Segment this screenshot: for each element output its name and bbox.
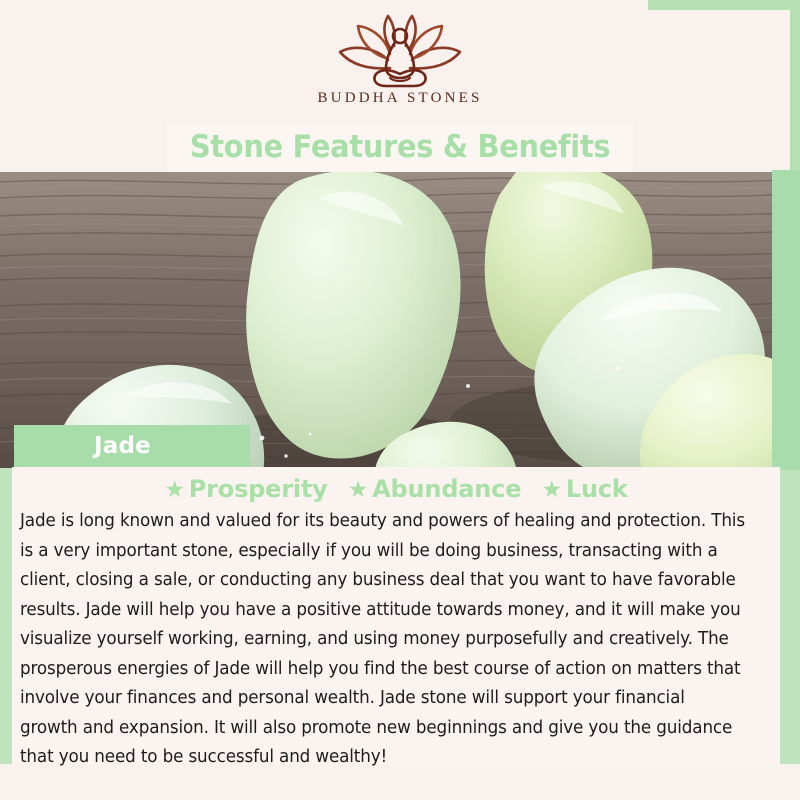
star-icon: ★ (541, 479, 561, 502)
benefit-label-prosperity: Prosperity (189, 475, 328, 503)
title-banner: Stone Features & Benefits (167, 122, 633, 172)
green-accent-right-lower (780, 468, 800, 768)
infographic-page: BUDDHA STONES Stone Features & Benefits … (0, 0, 800, 800)
page-title: Stone Features & Benefits (190, 129, 610, 165)
jade-stones-photo (0, 172, 800, 468)
star-icon: ★ (164, 479, 184, 502)
content-panel: ★Prosperity ★Abundance ★Luck Jade is lon… (12, 467, 780, 764)
stone-name-label: Jade (14, 425, 250, 467)
green-accent-left-lower (0, 467, 12, 767)
stone-description: Jade is long known and valued for its be… (20, 507, 746, 773)
benefit-item-luck: ★Luck (541, 475, 627, 503)
green-accent-right (772, 170, 800, 470)
benefit-label-luck: Luck (566, 475, 628, 503)
star-icon: ★ (348, 479, 368, 502)
benefit-label-abundance: Abundance (372, 475, 521, 503)
lotus-meditation-icon (332, 14, 468, 88)
benefits-row: ★Prosperity ★Abundance ★Luck (12, 475, 780, 503)
benefit-item-prosperity: ★Prosperity (164, 475, 327, 503)
benefit-item-abundance: ★Abundance (348, 475, 522, 503)
brand-name: BUDDHA STONES (0, 90, 800, 107)
stone-name-text: Jade (94, 433, 151, 459)
brand-logo: BUDDHA STONES (0, 14, 800, 107)
